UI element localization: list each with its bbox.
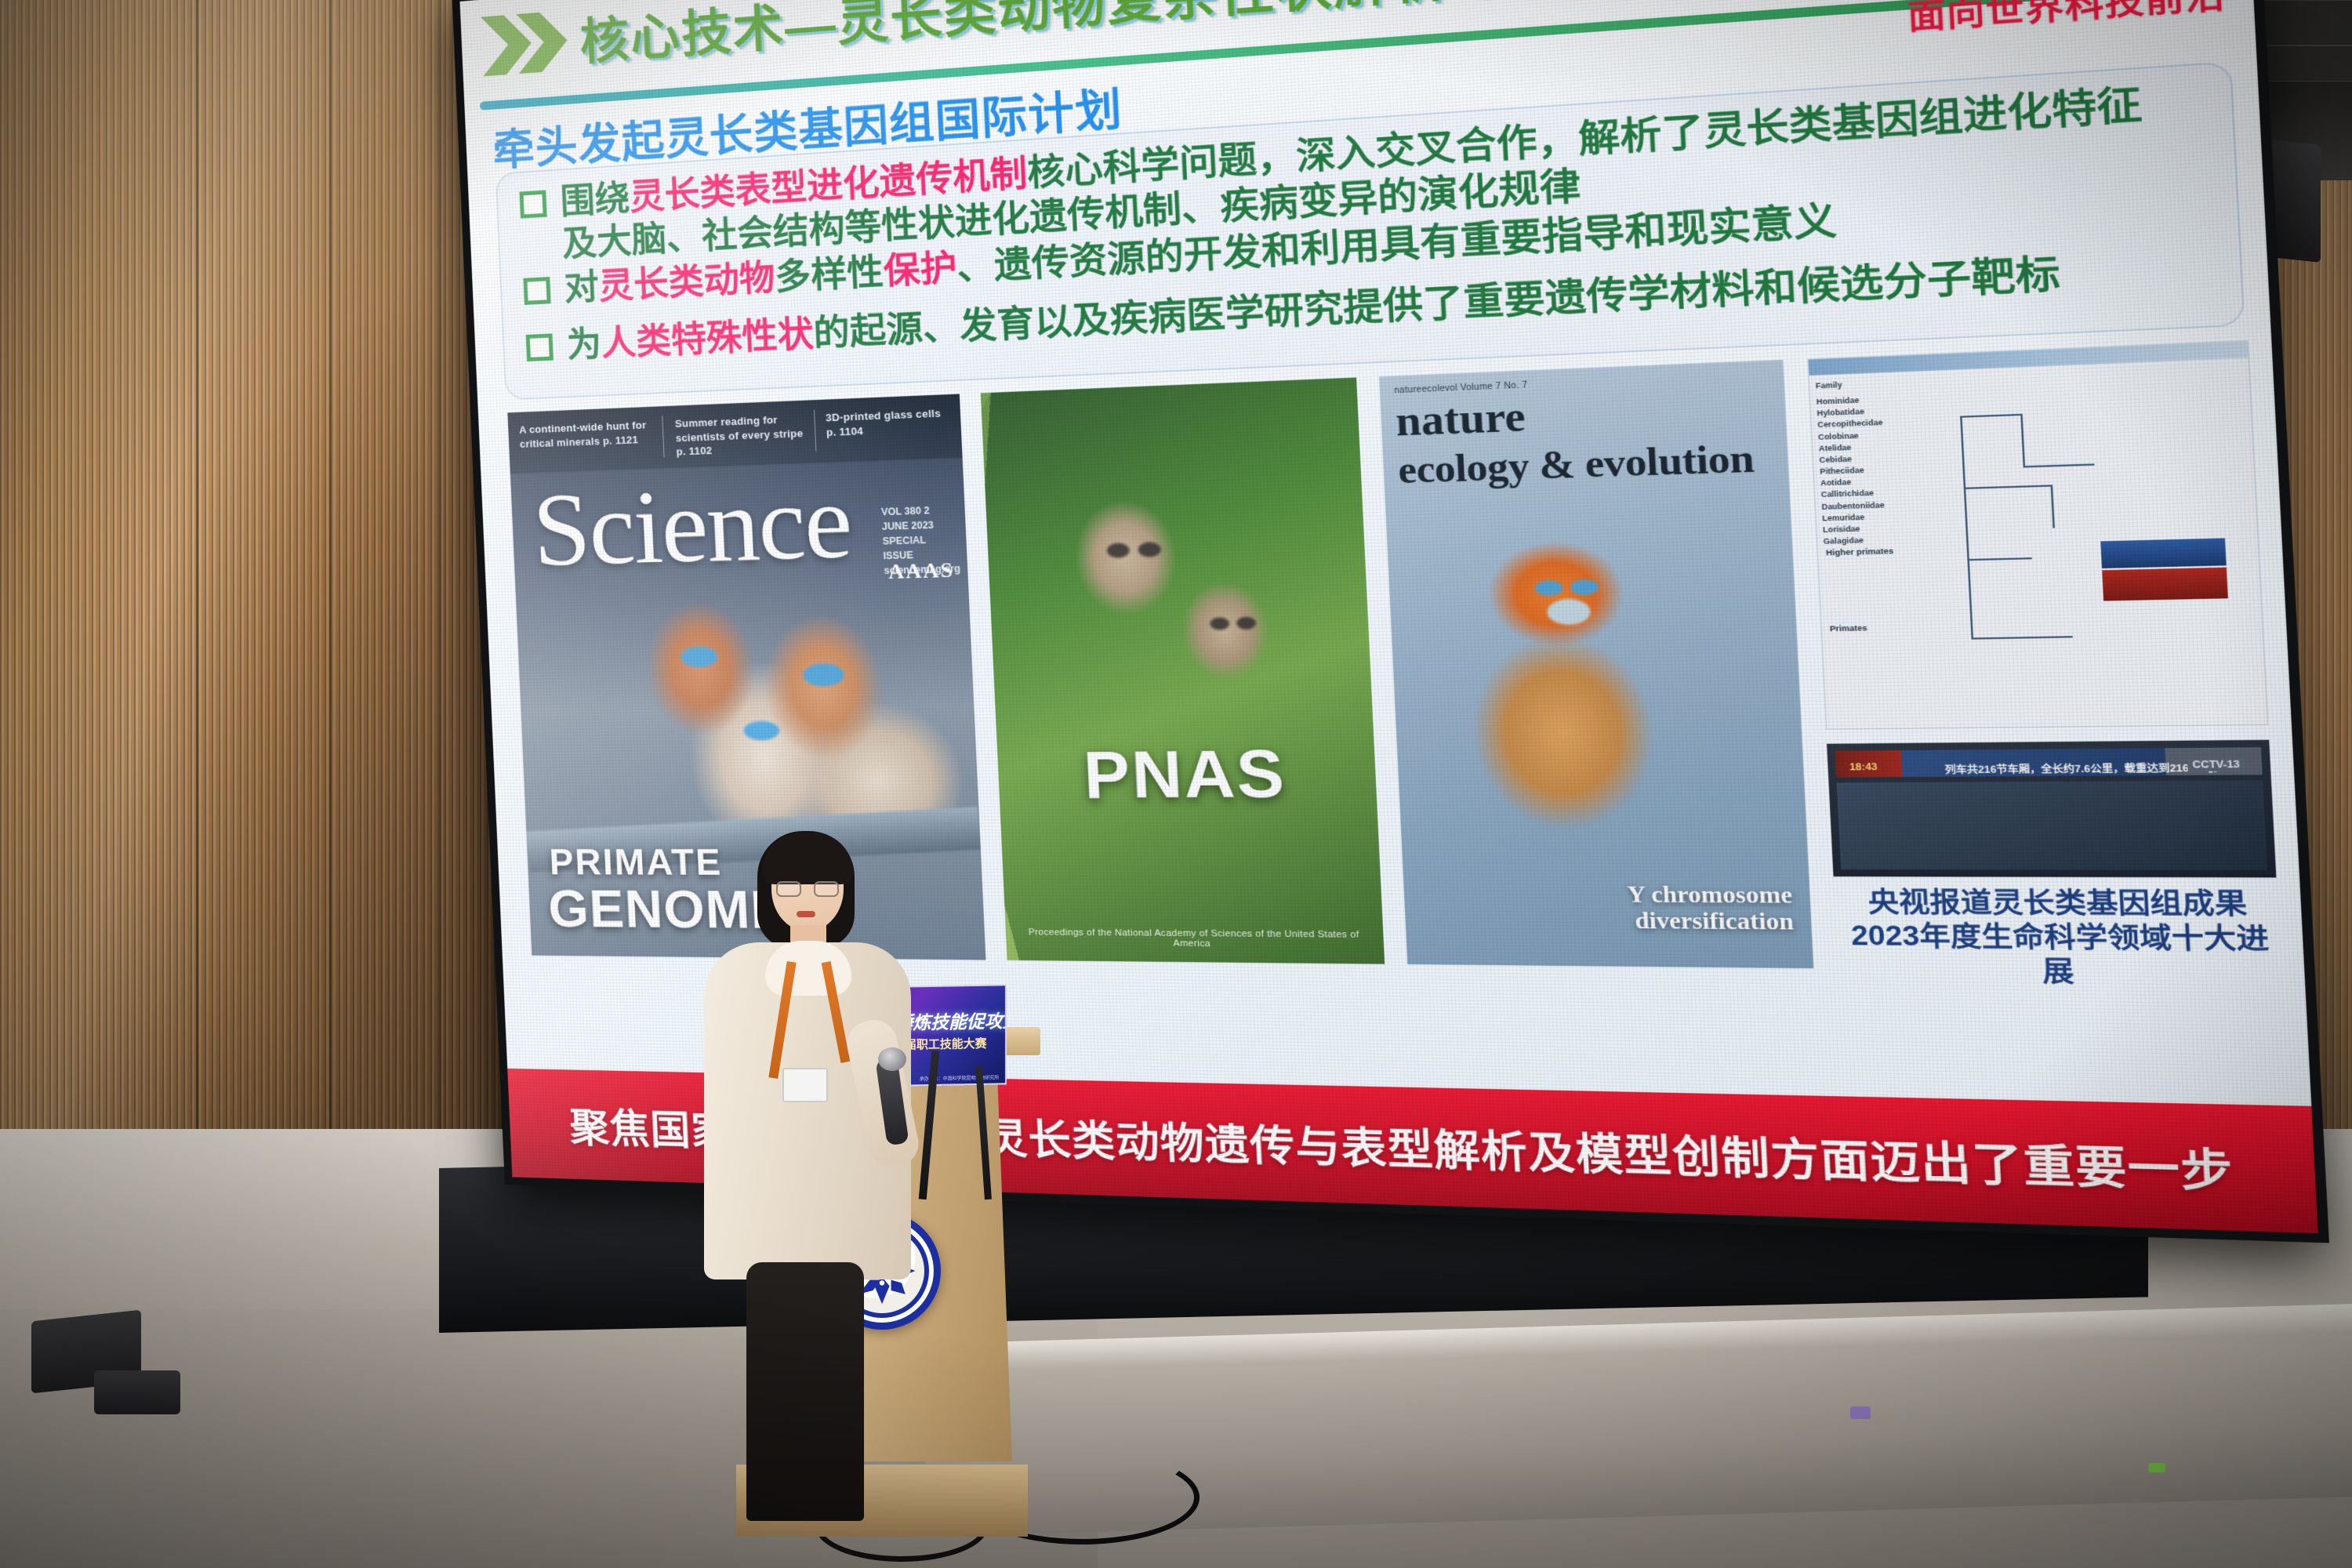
science-teaser-1: A continent-wide hunt for critical miner… [519,418,654,451]
bullet-square-icon [519,191,546,219]
right-panel-caption: 央视报道灵长类基因组成果 2023年度生命科学领域十大进展 [1834,885,2288,991]
cctv-ticker-time: 18:43 [1849,762,1878,773]
phylogeny-blue-block [2100,538,2226,568]
science-aaas-logo: AAAS [887,558,954,584]
phylogeny-higher-primates-label: Higher primates [1826,546,1894,557]
journal-cover-nature-ecology-evolution: natureecolevol Volume 7 No. 7 nature eco… [1379,360,1813,968]
science-cover-photo-monkeys [608,550,971,845]
chevron-right-icon [481,7,569,79]
journal-cover-pnas: PNAS Proceedings of the National Academy… [981,378,1385,964]
pnas-wordmark: PNAS [1082,735,1287,814]
pnas-cover-photo-lorises [1031,459,1334,742]
microphone-head-icon [878,1047,906,1071]
right-panel-caption-line-2: 2023年度生命科学领域十大进展 [1850,920,2270,987]
science-teaser-3: 3D-printed glass cells p. 1104 [826,406,952,440]
nee-wordmark-nature: nature [1395,397,1526,442]
presentation-scene: 核心技术—灵长类动物复杂性状解析与调控 牵头发起灵长类基因组国际计划 围绕灵长类… [0,0,2352,1568]
science-teaser-2: Summer reading for scientists of every s… [675,412,806,459]
right-panel-caption-line-1: 央视报道灵长类基因组成果 [1867,887,2248,920]
phylogeny-red-block [2102,568,2228,601]
nee-cover-caption: Y chromosome diversification [1627,881,1795,935]
nee-cover-line-2: diversification [1635,907,1795,935]
cctv-news-still: 18:43 列车共216节车厢，全长约7.6公里，载重达到21600吨。 CCT… [1827,740,2276,878]
cctv-ticker-text: 列车共216节车厢，全长约7.6公里，载重达到21600吨。 [1944,760,2225,777]
presenter-glasses [776,881,839,897]
presenter-legs [746,1262,864,1521]
nee-cover-photo-monkey [1414,511,1740,862]
presenter-badge [782,1068,828,1102]
cctv-ticker-bar: 18:43 列车共216节车厢，全长约7.6公里，载重达到21600吨。 CCT… [1835,747,2263,777]
phylogeny-tree-graphic [1958,379,2258,711]
bullet-square-icon [526,333,554,361]
phylogeny-taxa-list: HominidaeHylobatidaeCercopithecidaeColob… [1817,394,1889,547]
science-wordmark: Science [530,459,853,590]
phylogeny-figure: Family HominidaeHylobatidaeCercopithecid… [1807,340,2268,729]
frontier-tag: 面向世界科技前沿 [1906,0,2227,38]
presenter-collar [765,941,851,996]
presenter [690,823,917,1529]
phylogeny-family-label: Family [1815,379,1842,392]
phylogeny-primates-label: Primates [1830,623,1867,633]
phylogeny-header-band [1809,342,2249,376]
right-figure-panel: Family HominidaeHylobatidaeCercopithecid… [1807,340,2281,973]
bullet-square-icon [523,277,550,305]
nee-cover-line-1: Y chromosome [1627,881,1793,908]
cctv-channel-logo: CCTV-13 [2187,758,2246,771]
floor-marker-green [2148,1463,2165,1472]
cctv-still-image [1837,780,2268,870]
floor-cable-box [94,1370,180,1414]
nee-wordmark-subtitle: ecology & evolution [1397,435,1755,493]
presenter-mouth [797,911,815,917]
pnas-footer-text: Proceedings of the National Academy of S… [1024,927,1363,950]
floor-marker-purple [1850,1406,1871,1419]
